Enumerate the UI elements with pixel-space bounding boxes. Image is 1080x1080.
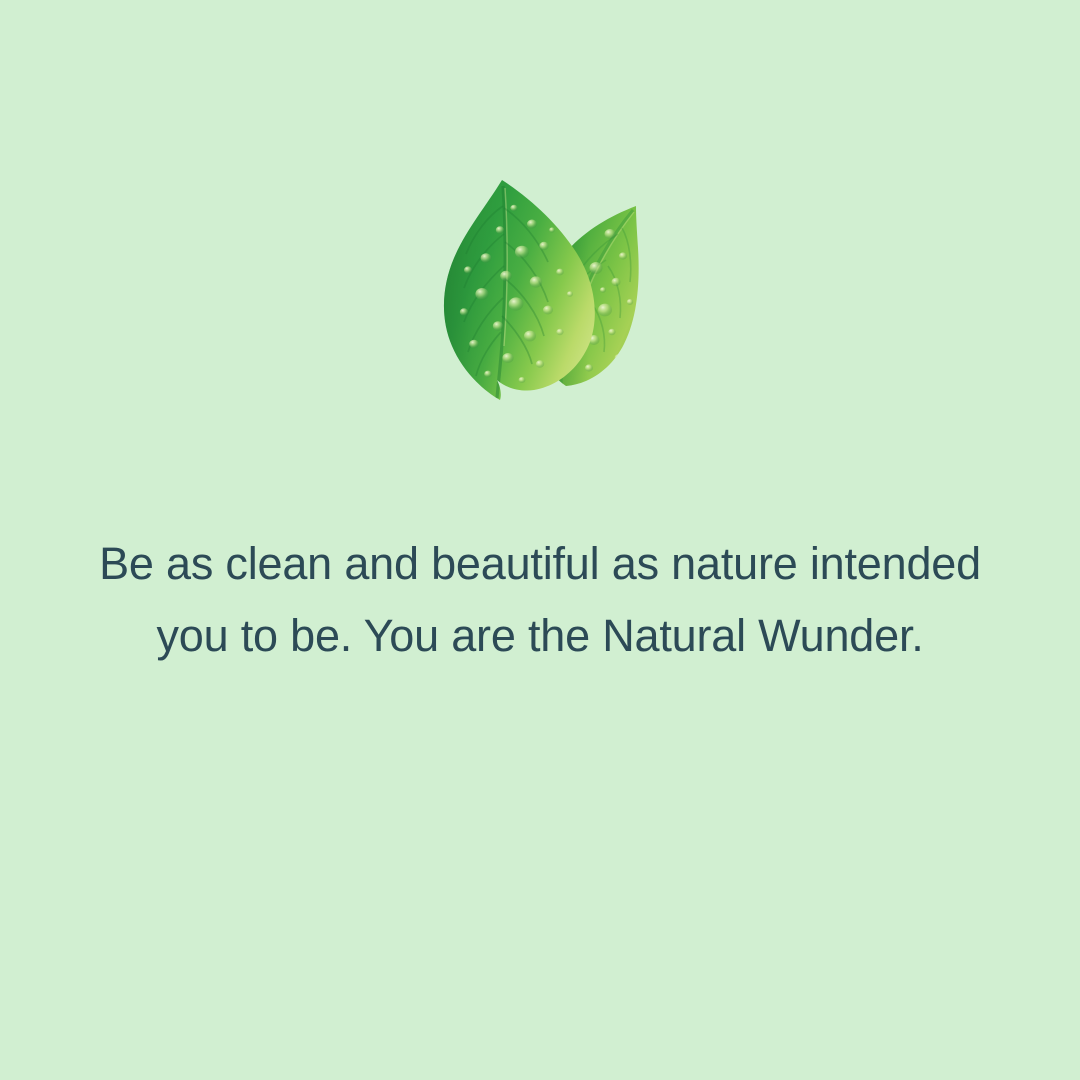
quote-line-1: Be as clean and beautiful as nature inte… <box>0 528 1080 600</box>
quote-text: Be as clean and beautiful as nature inte… <box>0 528 1080 672</box>
social-post-card: Be as clean and beautiful as nature inte… <box>0 0 1080 1080</box>
leaf-logo <box>440 172 640 412</box>
quote-line-2: you to be. You are the Natural Wunder. <box>0 600 1080 672</box>
